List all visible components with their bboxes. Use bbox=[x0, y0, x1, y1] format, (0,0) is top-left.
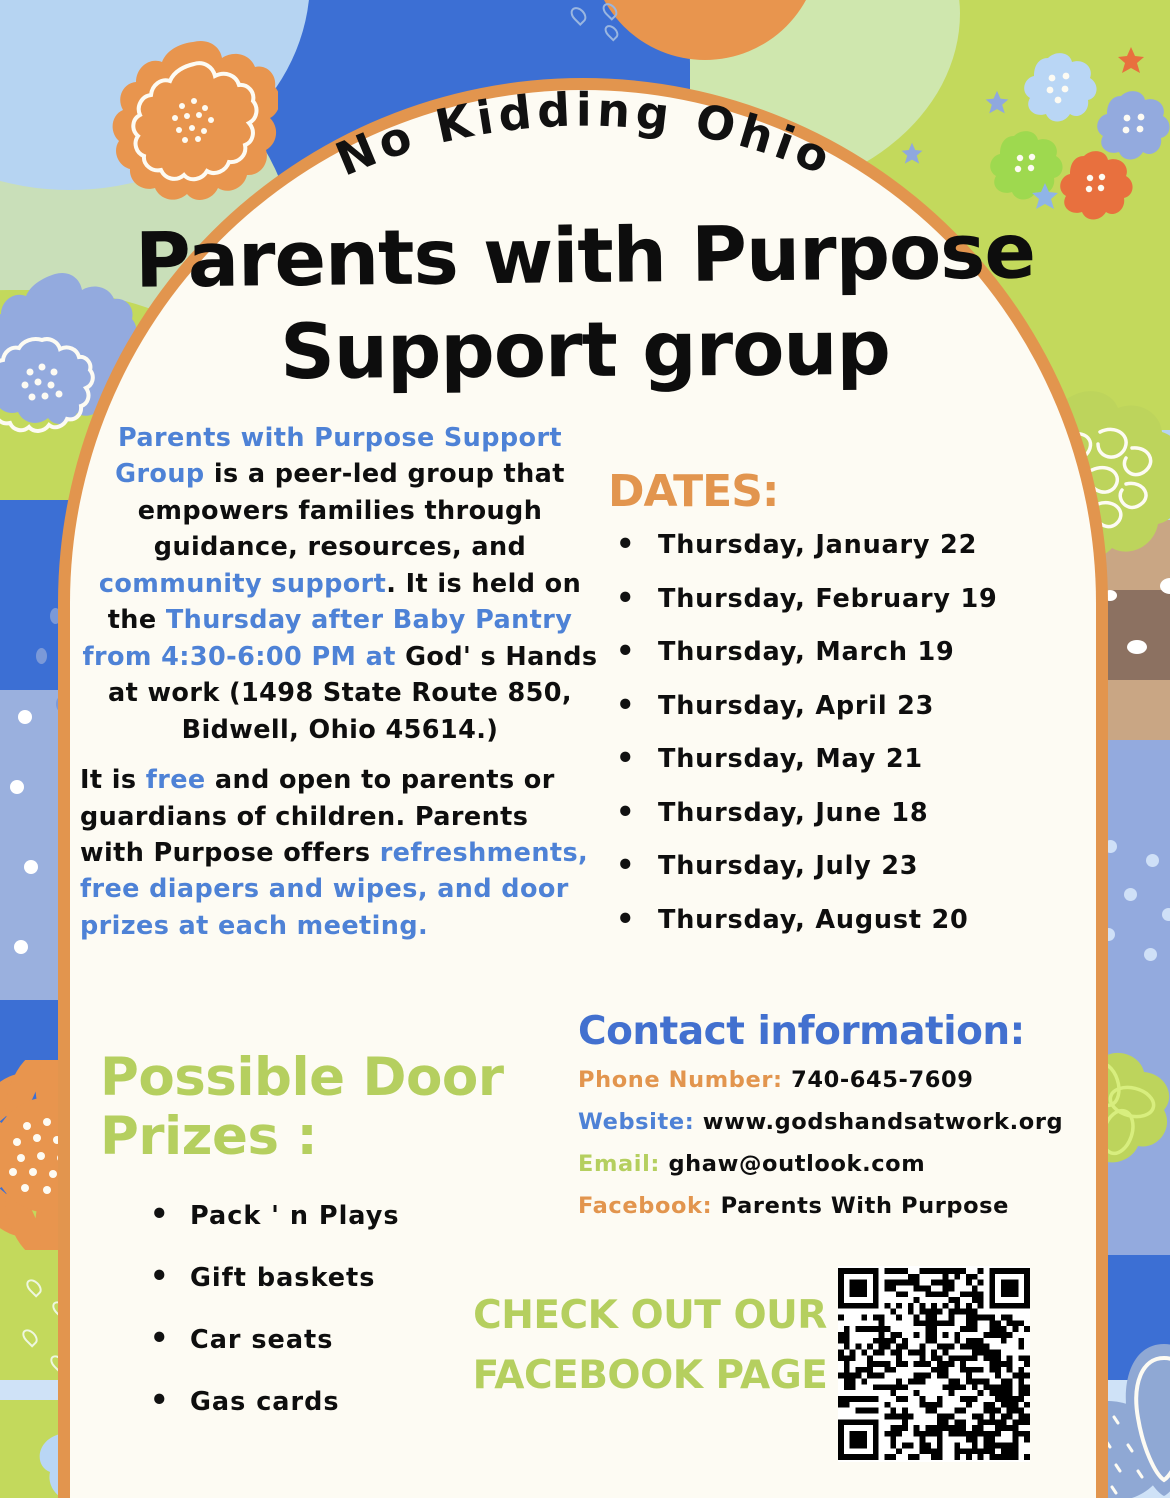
list-item: Thursday, March 19 bbox=[608, 637, 1078, 667]
contact-row[interactable]: Phone Number: 740-645-7609 bbox=[578, 1067, 1078, 1093]
list-item: Thursday, February 19 bbox=[608, 584, 1078, 614]
contact-value: Parents With Purpose bbox=[721, 1193, 1009, 1219]
prizes-heading-line1: Possible Door bbox=[100, 1047, 503, 1108]
description-paragraph-1: Parents with Purpose Support Group is a … bbox=[80, 420, 600, 748]
contact-section: Contact information: Phone Number: 740-6… bbox=[578, 1012, 1078, 1219]
contact-row[interactable]: Facebook: Parents With Purpose bbox=[578, 1193, 1078, 1219]
contact-label: Website: bbox=[578, 1109, 703, 1135]
text-segment-2: community support bbox=[99, 569, 386, 599]
facebook-cta-line1: CHECK OUT OUR bbox=[473, 1293, 827, 1338]
facebook-cta-line2: FACEBOOK PAGE bbox=[473, 1353, 828, 1398]
eyebrow-title-text: No Kidding Ohio bbox=[328, 82, 842, 186]
dates-list: Thursday, January 22Thursday, February 1… bbox=[608, 530, 1078, 935]
dates-section: DATES: Thursday, January 22Thursday, Feb… bbox=[608, 470, 1078, 958]
qr-code[interactable] bbox=[838, 1266, 1030, 1462]
description-paragraph-2: It is free and open to parents or guardi… bbox=[80, 762, 600, 944]
contact-heading: Contact information: bbox=[578, 1012, 1078, 1051]
contact-value: ghaw@outlook.com bbox=[668, 1151, 925, 1177]
prizes-heading-line2: Prizes : bbox=[100, 1106, 317, 1167]
text-segment-1: free bbox=[146, 765, 206, 795]
list-item: Pack ' n Plays bbox=[142, 1201, 570, 1231]
facebook-cta[interactable]: CHECK OUT OUR FACEBOOK PAGE bbox=[470, 1286, 830, 1407]
prizes-heading: Possible Door Prizes : bbox=[100, 1048, 570, 1167]
text-segment-0: It is bbox=[80, 765, 146, 795]
description-column: Parents with Purpose Support Group is a … bbox=[80, 420, 600, 944]
page-title-line2: Support group bbox=[0, 308, 1170, 392]
contact-value: www.godshandsatwork.org bbox=[703, 1109, 1064, 1135]
poster-canvas: No Kidding Ohio Parents with Purpose Sup… bbox=[0, 0, 1170, 1498]
contact-row[interactable]: Website: www.godshandsatwork.org bbox=[578, 1109, 1078, 1135]
poster-content: No Kidding Ohio Parents with Purpose Sup… bbox=[0, 0, 1170, 1498]
list-item: Thursday, May 21 bbox=[608, 744, 1078, 774]
page-title-line1: Parents with Purpose bbox=[0, 212, 1170, 300]
contact-rows: Phone Number: 740-645-7609Website: www.g… bbox=[578, 1067, 1078, 1219]
list-item: Thursday, January 22 bbox=[608, 530, 1078, 560]
list-item: Thursday, April 23 bbox=[608, 691, 1078, 721]
list-item: Thursday, August 20 bbox=[608, 905, 1078, 935]
contact-label: Email: bbox=[578, 1151, 668, 1177]
list-item: Thursday, June 18 bbox=[608, 798, 1078, 828]
svg-text:No Kidding Ohio: No Kidding Ohio bbox=[328, 82, 842, 186]
contact-label: Facebook: bbox=[578, 1193, 721, 1219]
list-item: Thursday, July 23 bbox=[608, 851, 1078, 881]
contact-value: 740-645-7609 bbox=[791, 1067, 973, 1093]
dates-heading: DATES: bbox=[608, 470, 1078, 514]
contact-label: Phone Number: bbox=[578, 1067, 791, 1093]
contact-row[interactable]: Email: ghaw@outlook.com bbox=[578, 1151, 1078, 1177]
